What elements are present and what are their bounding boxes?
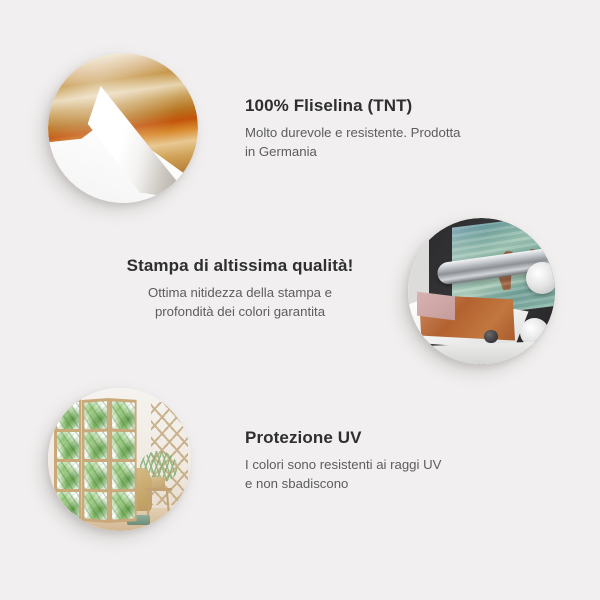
- feature-text-uv: Protezione UV I colori sono resistenti a…: [245, 428, 545, 493]
- printer-roller-cap-upper: [526, 262, 555, 294]
- large-format-printer-icon: [408, 218, 555, 365]
- divider-leaf-cell: [85, 402, 107, 433]
- feature-heading-uv: Protezione UV: [245, 428, 545, 448]
- divider-leaf-cell: [85, 462, 107, 492]
- divider-panel-right: [109, 399, 136, 524]
- feature-body-fliselina: Molto durevole e resistente. Prodotta in…: [245, 123, 545, 161]
- divider-leaf-cell: [112, 432, 134, 462]
- feature-heading-fliselina: 100% Fliselina (TNT): [245, 96, 545, 116]
- feature-image-uv: [48, 388, 191, 531]
- wallpaper-peeling-corner-icon: [48, 53, 198, 203]
- feature-text-stampa: Stampa di altissima qualità! Ottima niti…: [90, 256, 390, 321]
- divider-leaf-cell: [85, 492, 107, 520]
- divider-leaf-cell: [85, 432, 107, 462]
- divider-leaf-cell: [112, 462, 134, 492]
- feature-image-fliselina: [48, 53, 198, 203]
- interior-side-table: [145, 488, 172, 517]
- tropical-room-divider-icon: [48, 388, 191, 531]
- feature-list: 100% Fliselina (TNT) Molto durevole e re…: [0, 0, 600, 600]
- divider-panel-left: [54, 399, 82, 522]
- divider-leaf-cell: [57, 462, 80, 492]
- divider-leaf-cell: [57, 402, 80, 432]
- feature-body-uv: I colori sono resistenti ai raggi UV e n…: [245, 455, 545, 493]
- divider-panel-middle: [82, 398, 109, 523]
- divider-leaf-cell: [57, 492, 80, 519]
- divider-leaf-cell: [57, 432, 80, 462]
- printer-knob: [484, 330, 497, 343]
- divider-leaf-cell: [112, 492, 134, 520]
- feature-body-stampa: Ottima nitidezza della stampa e profondi…: [90, 283, 390, 321]
- divider-leaf-cell: [112, 402, 134, 433]
- feature-text-fliselina: 100% Fliselina (TNT) Molto durevole e re…: [245, 96, 545, 161]
- feature-heading-stampa: Stampa di altissima qualità!: [90, 256, 390, 276]
- feature-image-stampa: [408, 218, 555, 365]
- interior-room-divider-screen: [54, 399, 137, 522]
